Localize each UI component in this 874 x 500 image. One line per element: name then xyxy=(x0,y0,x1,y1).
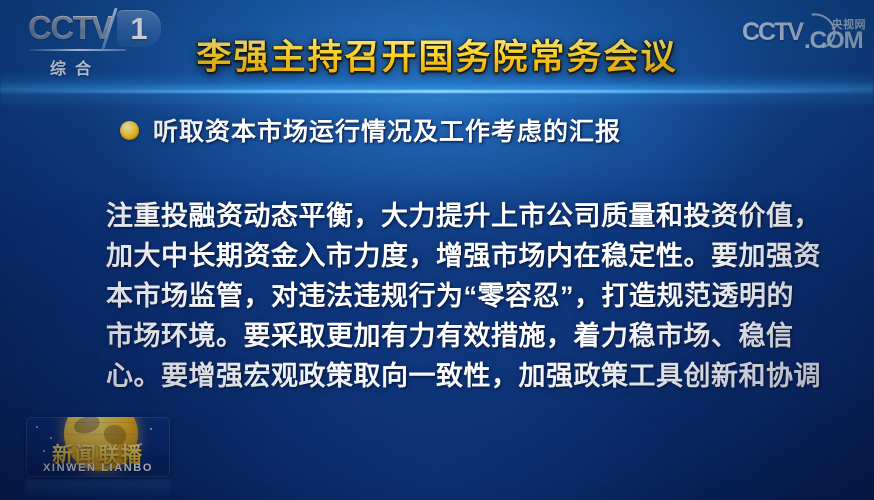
background-vignette xyxy=(0,0,874,500)
broadcast-screen: CCTV 1 综合 CCTV 央视网 .COM 李强主持召开国务院常务会议 听取… xyxy=(0,0,874,500)
